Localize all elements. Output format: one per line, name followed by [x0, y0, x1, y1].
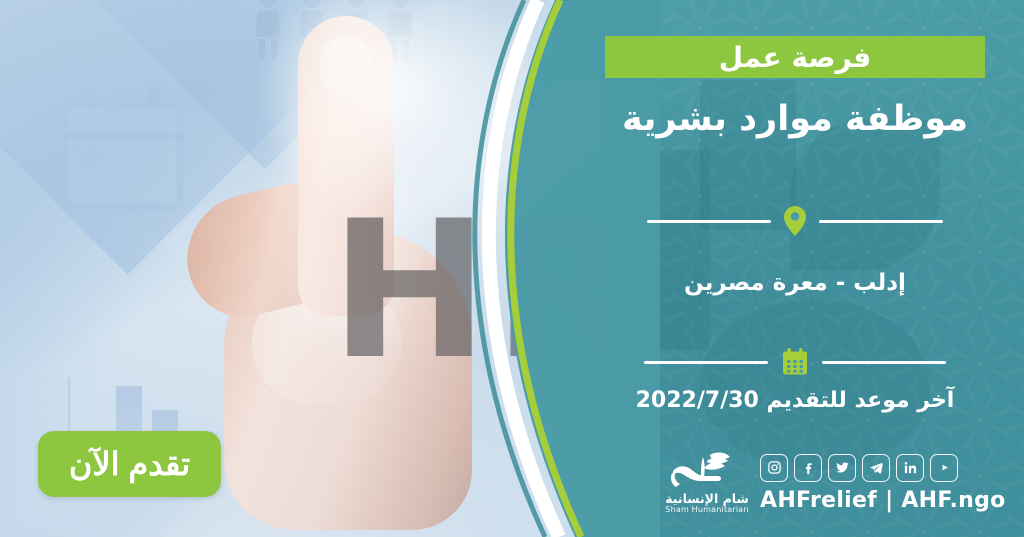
opportunity-banner-label: فرصة عمل [719, 41, 871, 74]
apply-now-button[interactable]: تقدم الآن [38, 431, 221, 497]
brand-name-english: Sham Humanitarian [664, 506, 750, 515]
youtube-icon[interactable] [930, 454, 958, 482]
location-text: إدلب - معرة مصرين [605, 270, 985, 296]
hand-leaf-logo-icon [664, 451, 750, 491]
social-handles: AHFrelief | AHF.ngo [760, 488, 1006, 513]
job-title: موظفة موارد بشرية [605, 98, 985, 140]
linkedin-icon[interactable] [896, 454, 924, 482]
social-links-row [760, 454, 1006, 482]
brand-name-arabic: شام الإنسانية [664, 492, 750, 506]
footer-right-column: AHFrelief | AHF.ngo [760, 454, 1006, 513]
curved-divider [460, 0, 660, 537]
brand-logo: شام الإنسانية Sham Humanitarian [664, 451, 750, 515]
deadline-text: آخر موعد للتقديم 2022/7/30 [605, 388, 985, 413]
job-vacancy-poster: HR HR فرصة عمل موظفة موارد بشرية إدلب - … [0, 0, 1024, 537]
calendar-icon [781, 348, 809, 376]
location-separator [625, 206, 965, 236]
background-watermark-shape [790, 120, 940, 270]
location-pin-icon [784, 206, 806, 236]
twitter-icon[interactable] [828, 454, 856, 482]
separator-line [644, 361, 768, 364]
footer: شام الإنسانية Sham Humanitarian [664, 451, 964, 515]
deadline-separator [625, 348, 965, 376]
facebook-icon[interactable] [794, 454, 822, 482]
separator-line [819, 220, 943, 223]
telegram-icon[interactable] [862, 454, 890, 482]
separator-line [822, 361, 946, 364]
background-watermark-shape [700, 300, 930, 470]
opportunity-banner: فرصة عمل [605, 36, 985, 78]
separator-line [647, 220, 771, 223]
instagram-icon[interactable] [760, 454, 788, 482]
